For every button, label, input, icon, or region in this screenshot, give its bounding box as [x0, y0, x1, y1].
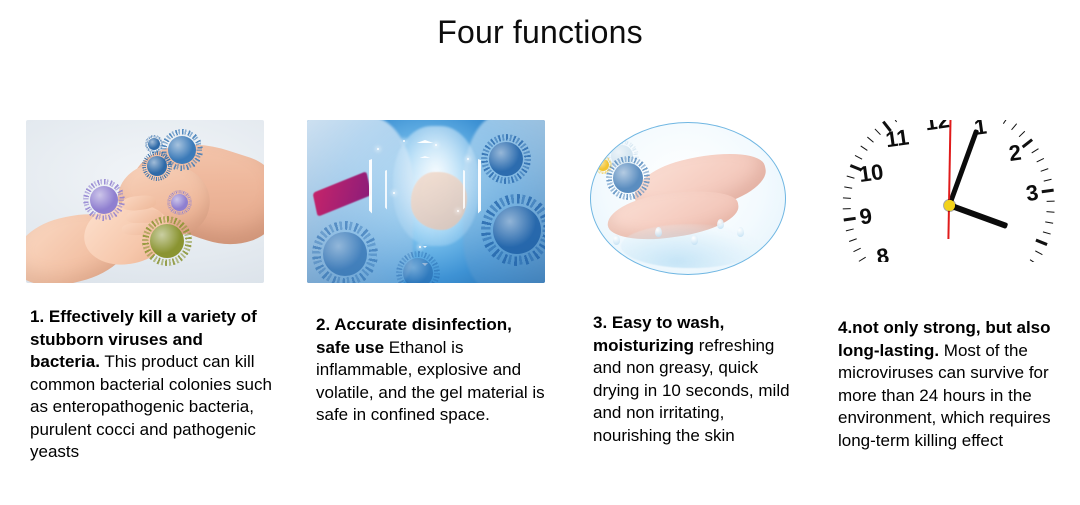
- sparkle-icon: [377, 148, 379, 150]
- virus-particle-icon: [171, 194, 188, 211]
- water-drop-icon: [613, 235, 620, 245]
- virus-particle-icon: [150, 224, 184, 258]
- clock-numeral-10: 10: [856, 159, 885, 188]
- slide-canvas: Four functions 1. Effectively kill a var…: [0, 0, 1080, 505]
- virus-particle-icon: [597, 159, 609, 171]
- virus-particle-icon: [323, 232, 367, 276]
- water-drop-icon: [717, 219, 724, 229]
- analog-clock-image: 12 1 2 3 7 8 9 10 11: [836, 120, 1058, 272]
- sparkle-icon: [419, 246, 421, 248]
- function-column-3: 3. Easy to wash, moisturizing refreshing…: [588, 120, 803, 275]
- clock-center-cap: [943, 199, 955, 211]
- sparkle-icon: [467, 158, 469, 160]
- virus-particle-icon: [147, 156, 167, 176]
- shield-icon: [369, 140, 481, 266]
- virus-particle-icon: [489, 142, 523, 176]
- sparkle-icon: [457, 210, 459, 212]
- water-drop-icon: [655, 227, 662, 237]
- clock-numeral-2: 2: [1000, 139, 1029, 168]
- virus-particle-icon: [148, 138, 160, 150]
- clock-numeral-9: 9: [851, 202, 880, 231]
- function-column-2: 2. Accurate disinfection, safe use Ethan…: [307, 120, 547, 283]
- sparkle-icon: [403, 140, 405, 142]
- function-column-4: 12 1 2 3 7 8 9 10 11 4.not only strong, …: [836, 120, 1056, 272]
- clock-numeral-11: 11: [883, 124, 912, 153]
- page-title: Four functions: [0, 12, 1080, 52]
- water-drop-icon: [691, 235, 698, 245]
- function-caption-4: 4.not only strong, but also long-lasting…: [838, 317, 1054, 452]
- clock-face: 12 1 2 3 7 8 9 10 11: [836, 120, 1058, 272]
- image-circle-frame: [590, 122, 786, 275]
- virus-particle-icon: [493, 206, 541, 254]
- sparkle-icon: [435, 144, 437, 146]
- virus-particle-icon: [90, 186, 118, 214]
- function-column-1: 1. Effectively kill a variety of stubbor…: [26, 120, 266, 283]
- hands-with-viruses-image: [26, 120, 264, 283]
- virus-particle-icon: [403, 258, 433, 283]
- glowing-shield-protection-image: [307, 120, 545, 283]
- function-caption-2: 2. Accurate disinfection, safe use Ethan…: [316, 314, 548, 427]
- clock-numeral-3: 3: [1017, 179, 1046, 208]
- image-crop-mask: [1056, 120, 1058, 272]
- virus-particle-icon: [168, 136, 196, 164]
- water-drop-icon: [737, 227, 744, 237]
- virus-particle-icon: [613, 163, 643, 193]
- sparkle-icon: [393, 192, 395, 194]
- hand-washing-circle-image: [588, 120, 786, 275]
- image-crop-mask: [836, 262, 1058, 272]
- function-caption-1: 1. Effectively kill a variety of stubbor…: [30, 306, 274, 464]
- function-caption-3: 3. Easy to wash, moisturizing refreshing…: [593, 312, 805, 447]
